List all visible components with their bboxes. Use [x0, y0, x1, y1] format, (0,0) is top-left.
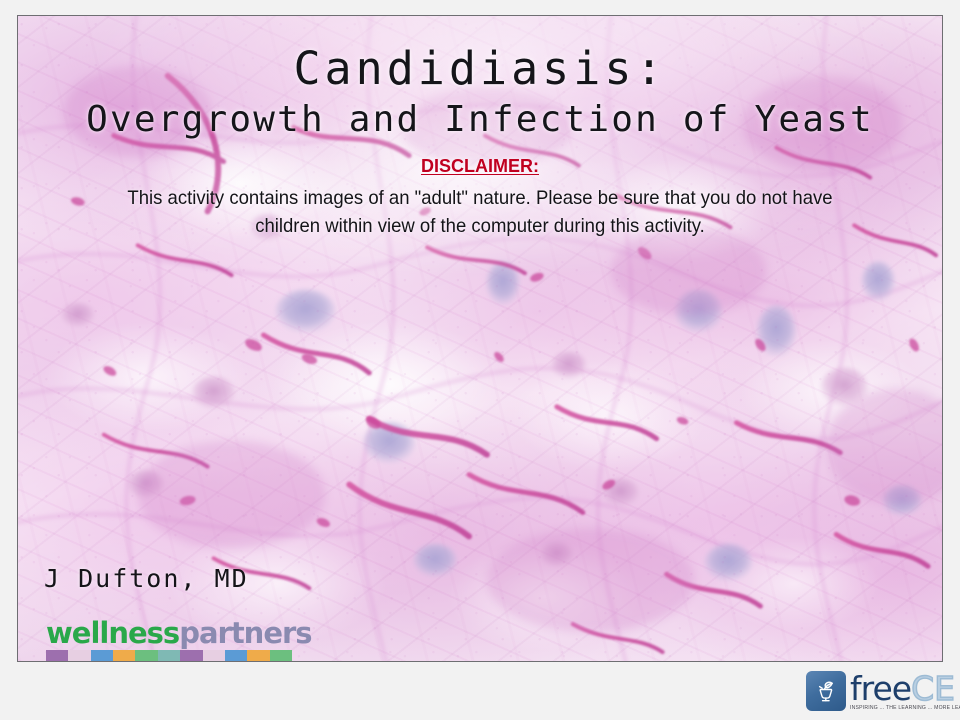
- freece-word-primary: free: [850, 672, 911, 705]
- wellness-partners-word-secondary: partners: [179, 616, 311, 650]
- slide-title-line-1: Candidiasis:: [18, 42, 942, 96]
- color-bar-segment-8: [203, 650, 225, 661]
- color-bar-segment-11: [270, 650, 292, 661]
- wellness-partners-logo: wellnesspartners: [30, 617, 292, 661]
- disclaimer-heading: DISCLAIMER:: [78, 154, 882, 178]
- presentation-slide: Candidiasis: Overgrowth and Infection of…: [17, 15, 943, 662]
- disclaimer-body: This activity contains images of an "adu…: [98, 184, 862, 240]
- mortar-and-pestle-icon: [806, 671, 846, 711]
- disclaimer: DISCLAIMER: This activity contains image…: [78, 154, 882, 240]
- author-credit: J Dufton, MD: [44, 564, 249, 593]
- color-bar-segment-7: [180, 650, 202, 661]
- freece-tagline: INSPIRING ... THE LEARNING ... MORE LEAR…: [850, 706, 960, 711]
- freece-words: freeCE: [850, 672, 960, 705]
- wellness-partners-wordmark: wellnesspartners: [30, 617, 292, 649]
- color-bar-segment-9: [225, 650, 247, 661]
- freece-word-secondary: CE: [911, 672, 955, 705]
- color-bar-segment-5: [135, 650, 157, 661]
- slide-title: Candidiasis: Overgrowth and Infection of…: [18, 42, 942, 142]
- color-bar-segment-6: [158, 650, 180, 661]
- wellness-partners-color-bar: [46, 650, 292, 661]
- slide-viewer: Candidiasis: Overgrowth and Infection of…: [0, 0, 960, 720]
- color-bar-segment-4: [113, 650, 135, 661]
- color-bar-segment-3: [91, 650, 113, 661]
- slide-title-line-2: Overgrowth and Infection of Yeast: [18, 98, 942, 142]
- color-bar-segment-10: [247, 650, 269, 661]
- wellness-partners-word-primary: wellness: [46, 616, 179, 650]
- color-bar-segment-2: [68, 650, 90, 661]
- freece-logo: freeCE INSPIRING ... THE LEARNING ... MO…: [806, 671, 960, 711]
- freece-wordmark: freeCE INSPIRING ... THE LEARNING ... MO…: [850, 672, 960, 711]
- color-bar-segment-1: [46, 650, 68, 661]
